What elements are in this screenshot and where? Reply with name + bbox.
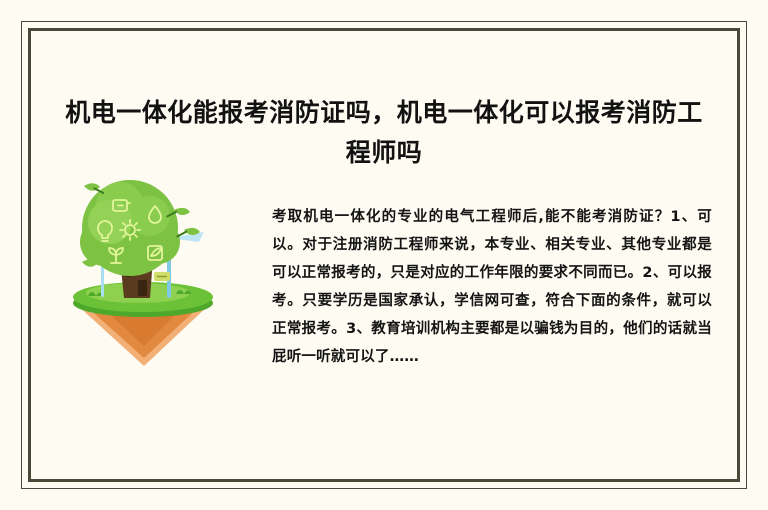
treehouse-door [138, 280, 147, 296]
article-body-area: 考取机电一体化的专业的电气工程师后,能不能考消防证？1、可以。对于注册消防工程师… [28, 168, 740, 428]
article-body-text: 考取机电一体化的专业的电气工程师后,能不能考消防证？1、可以。对于注册消防工程师… [272, 203, 712, 371]
tree-canopy-lobe-upper-right [130, 196, 170, 236]
page-content: 机电一体化能报考消防证吗，机电一体化可以报考消防工程师吗 [28, 28, 740, 482]
page-title: 机电一体化能报考消防证吗，机电一体化可以报考消防工程师吗 [58, 93, 710, 173]
eco-island-illustration [58, 176, 228, 366]
article-page: 机电一体化能报考消防证吗，机电一体化可以报考消防工程师吗 [0, 0, 768, 510]
eco-island-graphic [58, 176, 228, 366]
